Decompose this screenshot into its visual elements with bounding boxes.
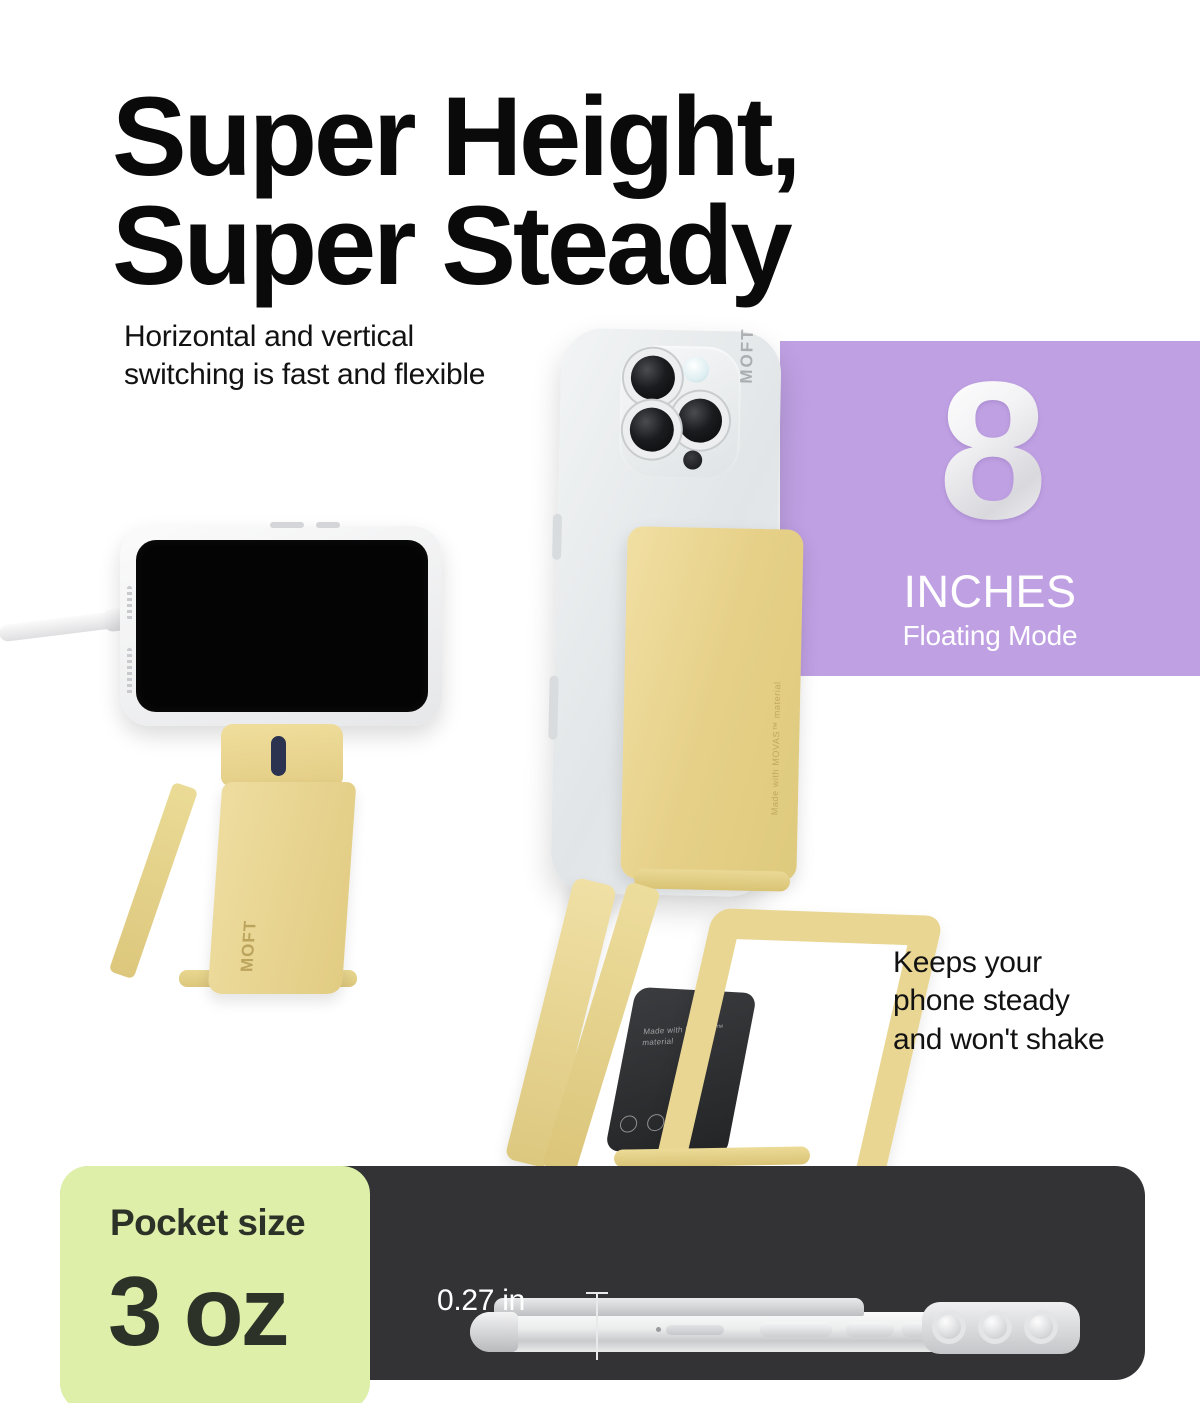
camera-lens-icon <box>629 407 674 452</box>
camera-module <box>619 345 742 479</box>
camera-lens-icon <box>978 1310 1012 1344</box>
flash-icon <box>683 356 710 383</box>
power-button <box>316 522 340 528</box>
thickness-label: 0.27 in <box>437 1286 525 1316</box>
brand-logo-moft: MOFT <box>237 920 261 972</box>
product-infographic: Super Height, Super Steady Horizontal an… <box>0 0 1200 1403</box>
stand-front-panel: MOFT <box>208 782 357 994</box>
caption-orientation-line-1: Horizontal and vertical <box>124 318 594 356</box>
phone-corner <box>470 1312 518 1352</box>
brand-logo-moft: MOFT <box>737 327 758 384</box>
camera-lens-icon <box>630 355 675 400</box>
microphone-icon <box>683 450 702 469</box>
phone-landscape <box>120 526 442 726</box>
stand-emboss-text: Made with MOVAS™ material <box>770 681 783 815</box>
caption-stability-line-3: and won't shake <box>893 1021 1163 1059</box>
stand-head <box>221 724 343 786</box>
phone-edge-view <box>470 1298 1125 1368</box>
pocket-size-badge: Pocket size 3 oz <box>60 1166 370 1403</box>
caption-orientation-line-2: switching is fast and flexible <box>124 356 594 394</box>
camera-lens-icon <box>1024 1310 1058 1344</box>
stand-rear-leg <box>109 782 199 980</box>
product-photo-horizontal-mode: MOFT <box>95 500 455 1020</box>
pocket-size-title: Pocket size <box>110 1204 305 1241</box>
pocket-size-weight: 3 oz <box>108 1262 287 1360</box>
camera-lens-icon <box>932 1310 966 1344</box>
speaker-slot <box>666 1325 724 1335</box>
camera-bump <box>922 1302 1080 1354</box>
charging-port <box>271 736 286 776</box>
volume-button <box>552 514 562 560</box>
headline-line-2: Super Steady <box>112 192 1152 301</box>
phone-screen <box>136 540 428 712</box>
camera-lens-icon <box>678 398 723 443</box>
caption-stability: Keeps your phone steady and won't shake <box>893 944 1163 1059</box>
speaker-grille-icon <box>127 648 132 696</box>
caption-stability-line-2: phone steady <box>893 982 1163 1020</box>
measurement-caliper-icon <box>596 1292 598 1360</box>
stand-hinge <box>634 868 790 891</box>
page-title: Super Height, Super Steady <box>112 83 1152 300</box>
caption-stability-line-1: Keeps your <box>893 944 1163 982</box>
speaker-grille-icon <box>127 586 132 620</box>
magsafe-stand-plate: Made with MOVAS™ material <box>620 526 803 882</box>
volume-up-button <box>760 1322 832 1337</box>
phone-stand-profile <box>494 1298 864 1316</box>
charging-cable <box>0 611 120 642</box>
product-photo-floating-mode: MOFT Made with MOVAS™ material Made with… <box>548 330 948 1190</box>
stand-base-bar <box>614 1146 810 1167</box>
caption-orientation: Horizontal and vertical switching is fas… <box>124 318 594 395</box>
power-button <box>548 676 558 740</box>
volume-button <box>270 522 304 528</box>
headline-line-1: Super Height, <box>112 74 798 199</box>
leaf-icon <box>619 1115 638 1133</box>
microphone-icon <box>656 1327 661 1332</box>
volume-down-button <box>846 1322 894 1337</box>
